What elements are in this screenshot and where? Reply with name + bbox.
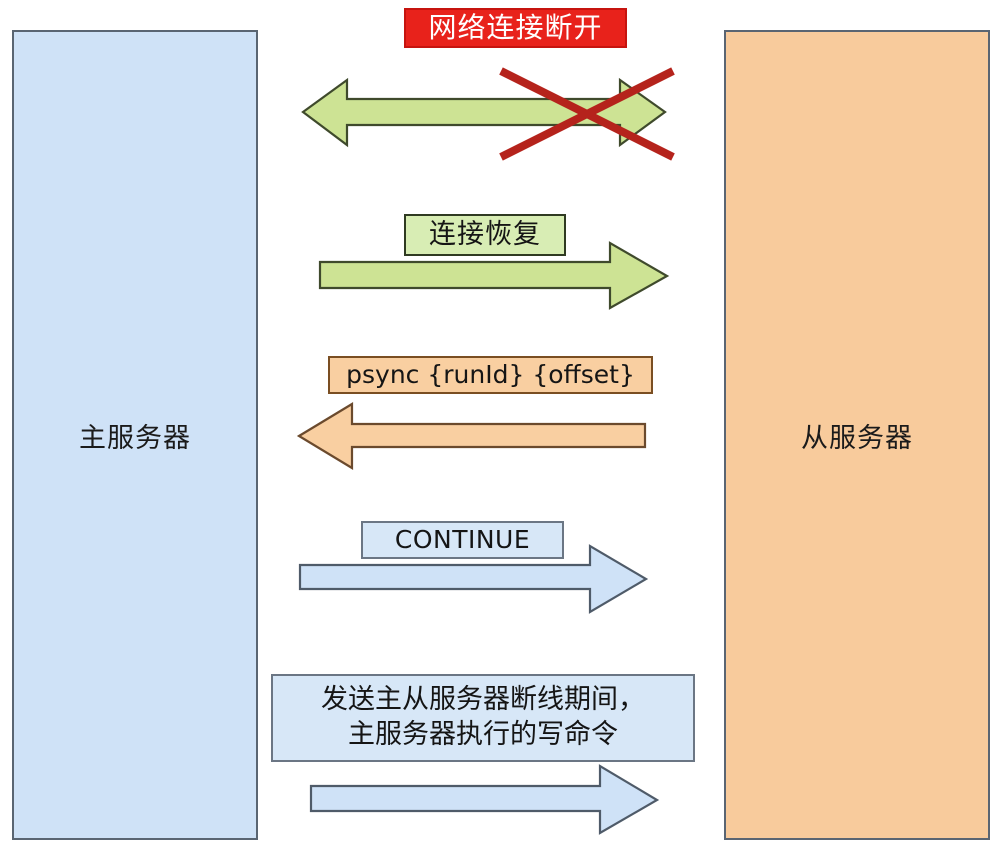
replication-partial-resync-diagram: 主服务器 从服务器 网络连接断开 连接恢复 psync {runId} {off…	[0, 0, 994, 860]
connection-restored-label: 连接恢复	[404, 214, 566, 256]
continue-response-label: CONTINUE	[361, 521, 564, 559]
write-commands-arrow-shape	[311, 766, 657, 833]
broken-link-cross-icon	[501, 71, 673, 157]
slave-server-label: 从服务器	[801, 416, 913, 455]
slave-server-box: 从服务器	[724, 30, 990, 840]
network-disconnected-banner: 网络连接断开	[404, 8, 627, 48]
write-commands-label: 发送主从服务器断线期间， 主服务器执行的写命令	[271, 674, 695, 762]
psync-command-label: psync {runId} {offset}	[328, 356, 653, 394]
master-server-box: 主服务器	[12, 30, 258, 840]
double-headed-arrow-shape	[303, 80, 665, 145]
psync-arrow-shape	[299, 404, 645, 468]
master-server-label: 主服务器	[79, 416, 191, 455]
